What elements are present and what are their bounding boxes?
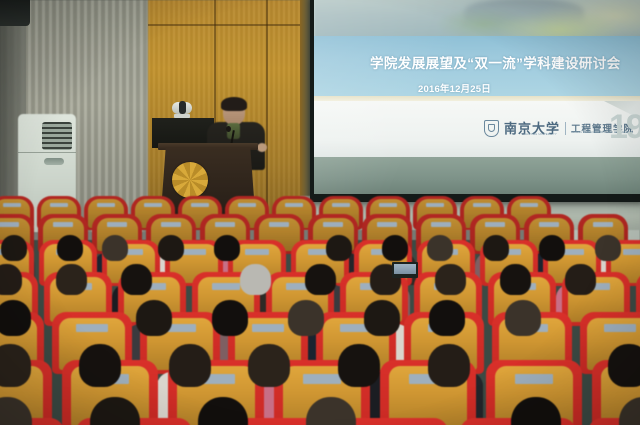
projection-screen: 学院发展展望及“双一流”学科建设研讨会 2016年12月25日 南京大学 NAN… [314, 0, 640, 194]
university-shield-icon [484, 120, 499, 137]
seat-number-plate [323, 222, 343, 227]
seat-number-plate [285, 203, 303, 207]
seat-number-plate [485, 222, 505, 227]
audience-member [248, 344, 290, 386]
audience-member [0, 344, 31, 386]
ptz-camera-icon [172, 99, 192, 119]
audience-member [500, 264, 530, 295]
audience-member [56, 264, 86, 295]
ceiling-speaker-icon [0, 0, 30, 26]
audience-member [169, 344, 211, 386]
audience-member [382, 235, 408, 262]
seat-number-plate [97, 203, 115, 207]
seat-number-plate [473, 203, 491, 207]
seat-number-plate [107, 222, 127, 227]
ptz-camera-base [174, 114, 190, 118]
air-conditioner-badge [44, 158, 64, 165]
seat-number-plate [426, 203, 444, 207]
slide-title: 学院发展展望及“双一流”学科建设研讨会 [370, 52, 640, 72]
audience-member [326, 235, 352, 262]
seat-number-plate [53, 222, 73, 227]
audience-member [57, 235, 83, 262]
university-name-en: NANJING UNIVERSITY [524, 133, 557, 136]
audience-member [102, 235, 128, 262]
seat-number-plate [0, 222, 19, 227]
seat-number-plate [161, 222, 181, 227]
audience-member [0, 264, 22, 295]
audience-member [427, 235, 453, 262]
audience-member [364, 300, 399, 336]
seat-number-plate [377, 222, 397, 227]
audience-member [539, 235, 565, 262]
audience-member [212, 300, 247, 336]
slide-date: 2016年12月25日 [418, 81, 491, 95]
slide-title-band: 学院发展展望及“双一流”学科建设研讨会 2016年12月25日 [314, 36, 640, 98]
seat-number-plate [144, 203, 162, 207]
logo-divider [565, 122, 566, 135]
audience-member [429, 300, 464, 336]
audience-member [1, 235, 27, 262]
audience-member [288, 300, 323, 336]
air-conditioner-seam [18, 152, 76, 153]
audience-member [136, 300, 171, 336]
presenter-hand [257, 143, 267, 152]
seat-number-plate [515, 374, 553, 383]
audience-member [305, 264, 335, 295]
audience-member [214, 235, 240, 262]
audience-member [121, 264, 151, 295]
presenter-glasses-icon [225, 109, 243, 114]
audience-member [505, 300, 540, 336]
microphone-icon [226, 126, 231, 132]
slide-footer-band [314, 157, 640, 194]
seat-number-plate [182, 249, 205, 255]
seat-number-plate [191, 203, 209, 207]
audience-member [79, 344, 121, 386]
audience-member [435, 264, 465, 295]
audience-member [0, 300, 31, 336]
seat-number-plate [431, 222, 451, 227]
wood-panel-seam [148, 24, 308, 26]
air-conditioner-vent [42, 122, 72, 150]
seat-number-plate [212, 283, 239, 290]
seat-number-plate [76, 324, 108, 332]
audience-seating [0, 200, 640, 425]
seat-number-plate [332, 203, 350, 207]
seat-number-plate [604, 324, 636, 332]
seat-number-plate [238, 203, 256, 207]
seat-number-plate [520, 203, 538, 207]
audience-laptop [392, 262, 418, 278]
audience-member [158, 235, 184, 262]
audience-member [565, 264, 595, 295]
audience-member [428, 344, 470, 386]
ptz-camera-lens [179, 101, 186, 114]
podium-emblem-icon [172, 162, 208, 198]
audience-member [608, 344, 640, 386]
audience-member [240, 264, 270, 295]
anniversary-number: 19 [609, 108, 640, 147]
seat-number-plate [623, 249, 640, 255]
seat-number-plate [252, 324, 284, 332]
audience-member [483, 235, 509, 262]
slide-photo-hill [464, 0, 584, 24]
slide-header-photo [314, 0, 640, 40]
seat-number-plate [245, 249, 268, 255]
seat-number-plate [50, 203, 68, 207]
audience-member [595, 235, 621, 262]
seat-number-plate [269, 222, 289, 227]
seat-number-plate [215, 222, 235, 227]
seat-number-plate [539, 222, 559, 227]
seat-number-plate [3, 203, 21, 207]
seat-number-plate [379, 203, 397, 207]
conference-hall-photo: 学院发展展望及“双一流”学科建设研讨会 2016年12月25日 南京大学 NAN… [0, 0, 640, 425]
seat-number-plate [303, 374, 341, 383]
audience-member [338, 344, 380, 386]
seat-number-plate [593, 222, 613, 227]
laptop-screen [394, 264, 416, 274]
